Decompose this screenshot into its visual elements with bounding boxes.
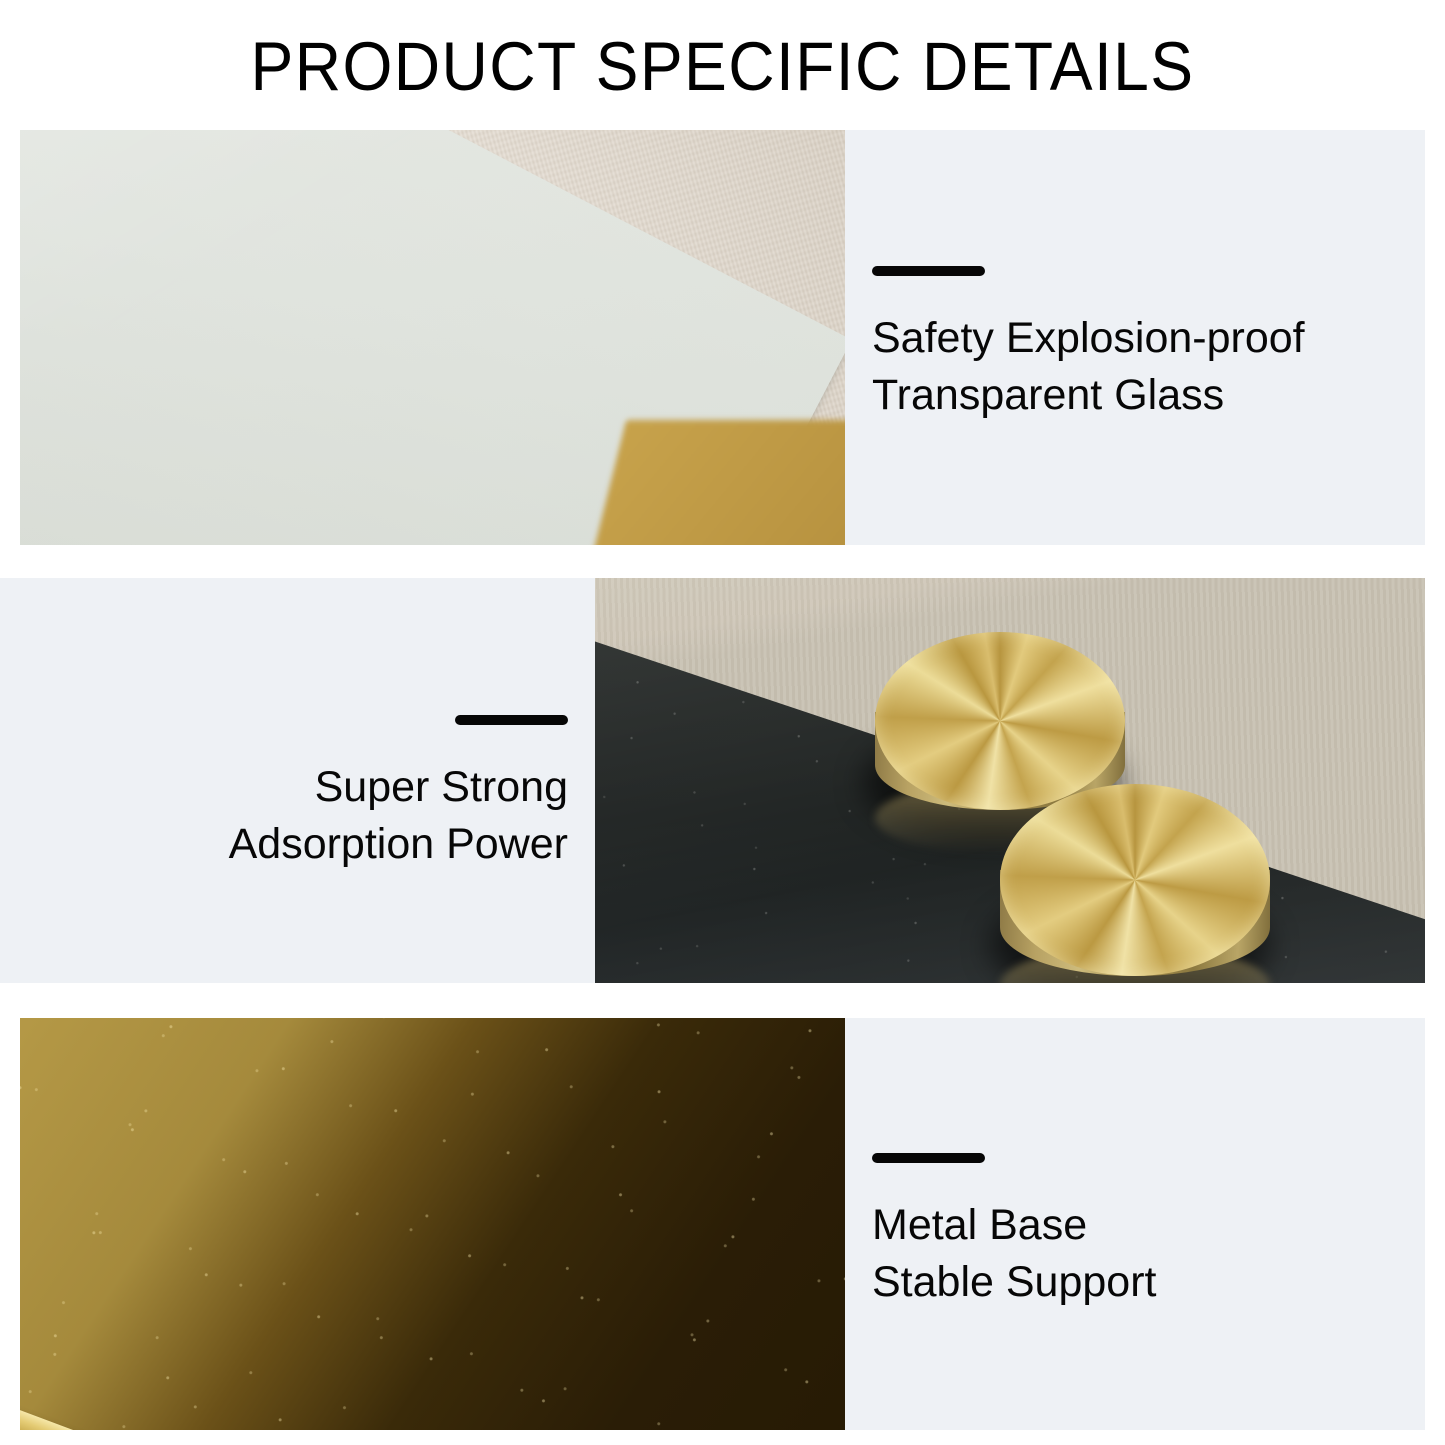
caption-line-1: Safety Explosion-proof — [872, 310, 1425, 367]
caption-line-2: Stable Support — [872, 1254, 1425, 1311]
caption-glass: Safety Explosion-proof Transparent Glass — [845, 130, 1425, 545]
page-title: PRODUCT SPECIFIC DETAILS — [51, 32, 1395, 101]
disc-brushed-face — [1000, 784, 1270, 976]
caption-rule-icon — [872, 266, 985, 276]
product-photo-gold-base — [20, 1018, 845, 1430]
detail-panel-glass: Safety Explosion-proof Transparent Glass — [20, 130, 1425, 545]
brass-disc-lower — [1000, 784, 1270, 976]
caption-metal-base: Metal Base Stable Support — [845, 1018, 1425, 1430]
caption-line-2: Transparent Glass — [872, 367, 1425, 424]
caption-rule-icon — [872, 1153, 985, 1163]
product-photo-glass-corner — [20, 130, 845, 545]
detail-panel-adsorption: Super Strong Adsorption Power — [0, 578, 1425, 983]
caption-rule-icon — [455, 715, 568, 725]
product-photo-brass-discs — [595, 578, 1425, 983]
gold-base-plate — [20, 1018, 845, 1430]
caption-line-1: Super Strong — [229, 759, 568, 816]
detail-panel-metal-base: Metal Base Stable Support — [20, 1018, 1425, 1430]
caption-line-1: Metal Base — [872, 1197, 1425, 1254]
caption-line-2: Adsorption Power — [229, 816, 568, 873]
gold-base-block — [381, 335, 845, 545]
caption-adsorption: Super Strong Adsorption Power — [0, 578, 595, 983]
